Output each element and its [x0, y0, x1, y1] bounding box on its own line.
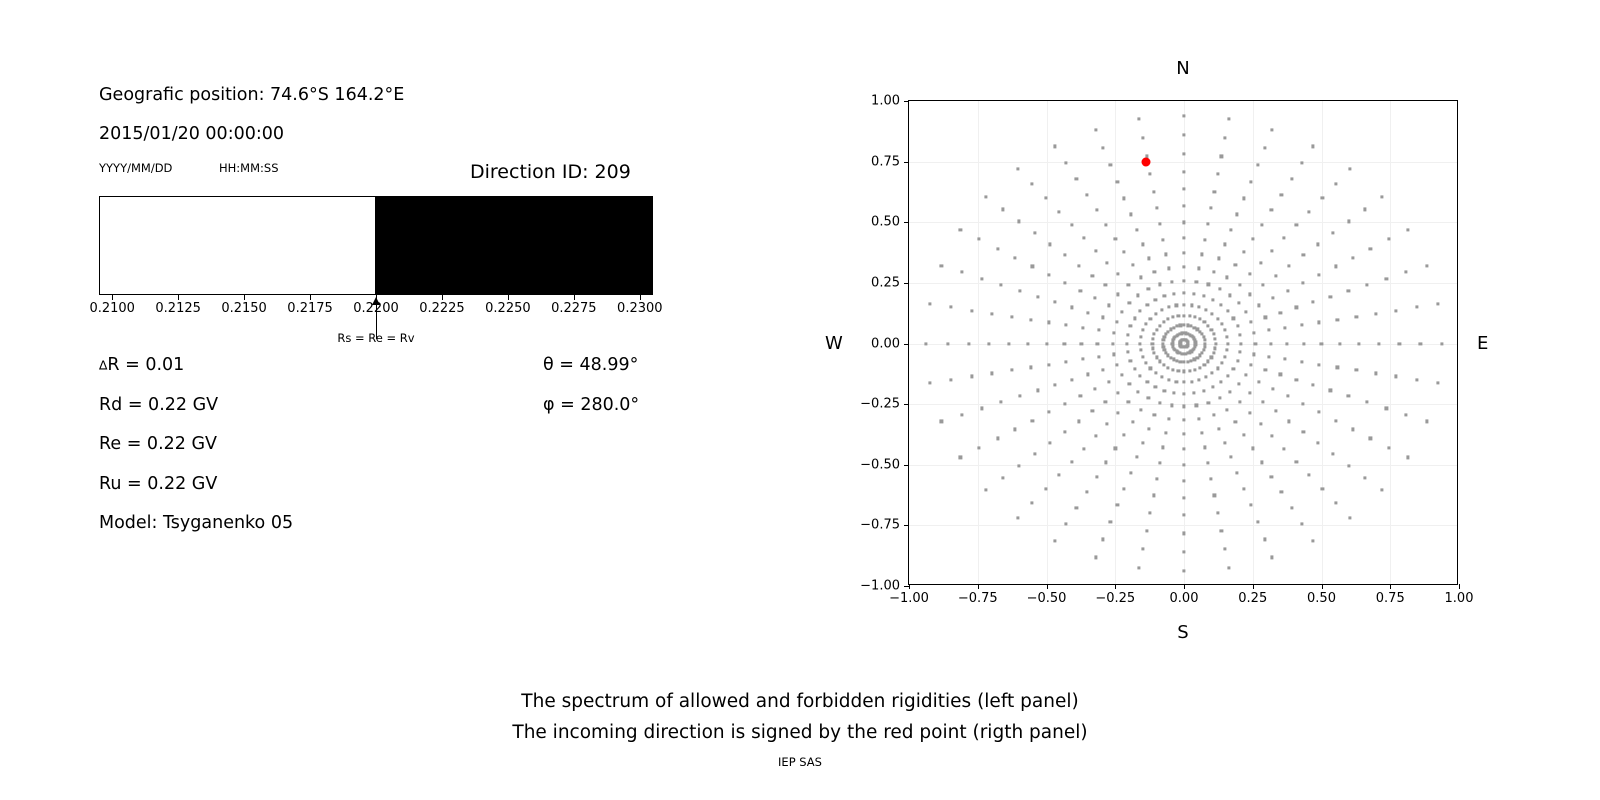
- direction-dot: [1153, 332, 1156, 335]
- direction-dot: [1251, 447, 1254, 450]
- direction-dot: [1203, 446, 1206, 449]
- direction-dot: [996, 247, 999, 250]
- direction-dot: [1151, 347, 1154, 350]
- direction-dot: [928, 302, 931, 305]
- direction-dot: [1137, 294, 1140, 297]
- direction-dot: [970, 309, 973, 312]
- direction-dot: [924, 342, 927, 345]
- direction-dot: [1106, 261, 1109, 264]
- direction-dot: [1283, 237, 1286, 240]
- direction-dot: [1123, 251, 1126, 254]
- direction-dot: [1106, 423, 1109, 426]
- direction-dot: [1158, 401, 1161, 404]
- direction-dot: [1080, 342, 1083, 345]
- direction-dot: [1321, 196, 1324, 199]
- direction-dot: [1121, 373, 1124, 376]
- x-tick-mark: [1184, 584, 1185, 589]
- direction-dot: [1175, 304, 1178, 307]
- direction-dot: [1295, 224, 1298, 227]
- direction-dot: [1216, 511, 1219, 514]
- direction-dot: [1070, 306, 1073, 309]
- direction-dot: [1316, 243, 1319, 246]
- direction-dot: [1295, 306, 1298, 309]
- direction-dot: [1149, 173, 1152, 176]
- direction-dot: [1238, 400, 1241, 403]
- parameter-item: φ = 280.0°: [543, 395, 639, 415]
- direction-dot: [1030, 502, 1033, 505]
- direction-dot: [1196, 356, 1199, 359]
- direction-dot: [1095, 208, 1098, 211]
- direction-dot: [1182, 266, 1185, 269]
- direction-dot: [1334, 502, 1337, 505]
- y-tick-mark: [904, 222, 909, 223]
- direction-dot: [1139, 335, 1142, 338]
- direction-dot: [1146, 303, 1149, 306]
- direction-dot: [1177, 369, 1180, 372]
- direction-dot: [1141, 441, 1144, 444]
- direction-dot: [1192, 391, 1195, 394]
- direction-dot: [1093, 387, 1096, 390]
- allowed-rigidity-region: [100, 197, 377, 294]
- direction-dot: [1182, 170, 1185, 173]
- direction-dot: [1162, 321, 1165, 324]
- direction-dot: [1172, 368, 1175, 371]
- direction-dot: [1211, 298, 1214, 301]
- direction-dot: [1109, 163, 1112, 166]
- direction-dot: [1260, 223, 1263, 226]
- direction-dot: [1149, 317, 1152, 320]
- direction-dot: [1234, 264, 1237, 267]
- direction-dot: [1224, 329, 1227, 332]
- direction-dot: [1182, 114, 1185, 117]
- direction-dot: [1437, 302, 1440, 305]
- direction-dot: [1123, 487, 1126, 490]
- direction-dot: [1116, 503, 1119, 506]
- direction-dot: [1137, 390, 1140, 393]
- spectrum-panel: Geografic position: 74.6°S 164.2°E 2015/…: [0, 0, 780, 620]
- selected-direction-point: [1141, 157, 1150, 166]
- direction-dot: [1182, 550, 1185, 553]
- direction-dot: [1263, 146, 1266, 149]
- direction-dot: [1251, 237, 1254, 240]
- direction-dot: [1116, 391, 1119, 394]
- parameter-item: Model: Tsyganenko 05: [99, 513, 293, 533]
- direction-dot: [1195, 404, 1198, 407]
- direction-dot: [1001, 476, 1004, 479]
- direction-dot: [1279, 311, 1282, 314]
- direction-dot: [1163, 295, 1166, 298]
- direction-dot: [1033, 452, 1036, 455]
- direction-dot: [1163, 348, 1166, 351]
- direction-dot: [1081, 326, 1084, 329]
- direction-dot: [1161, 308, 1164, 311]
- direction-dot: [1139, 342, 1142, 345]
- direction-dot: [1249, 320, 1252, 323]
- direction-dot: [1082, 237, 1085, 240]
- direction-dot: [1203, 321, 1206, 324]
- direction-dot: [1094, 128, 1097, 131]
- direction-dot: [1115, 320, 1118, 323]
- direction-dot: [1214, 342, 1217, 345]
- spectrum-tick-label: 0.2150: [221, 301, 267, 316]
- direction-dot: [1348, 516, 1351, 519]
- direction-dot: [1057, 210, 1060, 213]
- direction-dot: [1228, 390, 1231, 393]
- direction-dot: [1274, 410, 1277, 413]
- delta-glyph: ∆: [99, 358, 107, 373]
- spectrum-tick-label: 0.2275: [551, 301, 597, 316]
- direction-dot: [1236, 325, 1239, 328]
- direction-dot: [1198, 366, 1201, 369]
- compass-label-west: W: [825, 333, 843, 354]
- direction-dot: [1182, 279, 1185, 282]
- direction-dot: [1369, 437, 1372, 440]
- direction-dot: [1336, 366, 1339, 369]
- direction-dot: [1053, 383, 1056, 386]
- y-tick-label: 0.75: [871, 154, 900, 169]
- direction-dot: [1167, 366, 1170, 369]
- direction-dot: [1232, 367, 1235, 370]
- direction-dot: [1213, 190, 1216, 193]
- direction-dot: [1027, 342, 1030, 345]
- direction-dot: [1253, 331, 1256, 334]
- direction-dot: [1219, 303, 1222, 306]
- direction-dot: [1268, 329, 1271, 332]
- direction-dot: [1290, 506, 1293, 509]
- direction-dot: [1236, 213, 1239, 216]
- direction-dot: [1220, 361, 1223, 364]
- direction-dot: [1207, 401, 1210, 404]
- direction-dot: [1385, 407, 1388, 410]
- direction-dot: [1380, 488, 1383, 491]
- direction-dot: [1159, 223, 1162, 226]
- direction-dot: [1149, 367, 1152, 370]
- direction-dot: [1129, 359, 1132, 362]
- x-tick-mark: [1115, 584, 1116, 589]
- direction-dot: [1147, 396, 1150, 399]
- x-tick-mark: [1459, 584, 1460, 589]
- direction-dot: [960, 413, 963, 416]
- direction-dot: [959, 228, 962, 231]
- direction-dot: [1268, 355, 1271, 358]
- caption-line-2: The incoming direction is signed by the …: [0, 717, 1600, 748]
- direction-dot: [1154, 371, 1157, 374]
- direction-dot: [1286, 289, 1289, 292]
- direction-dot: [1218, 396, 1221, 399]
- direction-dot: [1204, 308, 1207, 311]
- x-tick-label: 0.25: [1238, 591, 1267, 606]
- direction-dot: [1257, 380, 1260, 383]
- direction-dot: [1316, 441, 1319, 444]
- direction-dot: [1288, 264, 1291, 267]
- direction-dot: [1093, 297, 1096, 300]
- direction-dot: [1155, 207, 1158, 210]
- direction-dot: [1177, 314, 1180, 317]
- direction-dot: [1182, 532, 1185, 535]
- direction-dot: [1190, 304, 1193, 307]
- direction-dot: [1332, 452, 1335, 455]
- direction-dot: [1111, 342, 1114, 345]
- direction-dot: [1063, 254, 1066, 257]
- forbidden-rigidity-region: [375, 197, 652, 294]
- direction-dot: [1364, 208, 1367, 211]
- direction-dot: [1214, 337, 1217, 340]
- direction-dot: [1162, 345, 1165, 348]
- direction-dot: [1261, 400, 1264, 403]
- direction-dot: [1318, 321, 1321, 324]
- direction-dot: [1348, 167, 1351, 170]
- direction-dot: [1144, 323, 1147, 326]
- direction-dot: [996, 437, 999, 440]
- datetime-label: 2015/01/20 00:00:00: [99, 124, 284, 144]
- direction-dot: [1232, 317, 1235, 320]
- spectrum-tick-label: 0.2300: [617, 301, 663, 316]
- direction-dot: [1165, 431, 1168, 434]
- direction-dot: [1079, 289, 1082, 292]
- direction-dot: [1226, 342, 1229, 345]
- direction-dot: [1127, 283, 1130, 286]
- rs-marker-label-wrap: Rs = Re = Rv: [99, 331, 653, 345]
- direction-dot: [1264, 368, 1267, 371]
- direction-dot: [1321, 487, 1324, 490]
- direction-dot: [1242, 251, 1245, 254]
- direction-dot: [1320, 342, 1323, 345]
- parameter-item: Ru = 0.22 GV: [99, 474, 217, 494]
- direction-dot: [985, 196, 988, 199]
- direction-dot: [1097, 329, 1100, 332]
- direction-dot: [1394, 375, 1397, 378]
- direction-dot: [1129, 325, 1132, 328]
- direction-dot: [1053, 145, 1056, 148]
- direction-dot: [1338, 342, 1341, 345]
- direction-dot: [1284, 326, 1287, 329]
- parameter-item: Rd = 0.22 GV: [99, 395, 218, 415]
- direction-dot: [1123, 433, 1126, 436]
- direction-dot: [1029, 318, 1032, 321]
- direction-dot: [1182, 314, 1185, 317]
- direction-dot: [1415, 378, 1418, 381]
- direction-dot: [1236, 359, 1239, 362]
- direction-dot: [1188, 314, 1191, 317]
- direction-dot: [1347, 395, 1350, 398]
- direction-dot: [1301, 281, 1304, 284]
- direction-dot: [1155, 328, 1158, 331]
- direction-dot: [1256, 163, 1259, 166]
- direction-dot: [1048, 243, 1051, 246]
- direction-dot: [1270, 208, 1273, 211]
- direction-dot: [1223, 243, 1226, 246]
- direction-dot: [1197, 267, 1200, 270]
- y-tick-label: 0.25: [871, 275, 900, 290]
- direction-dot: [1219, 380, 1222, 383]
- direction-dot: [1210, 356, 1213, 359]
- direction-dot: [1271, 249, 1274, 252]
- direction-dot: [1425, 420, 1428, 423]
- direction-dot: [1286, 395, 1289, 398]
- x-tick-label: 0.50: [1307, 591, 1336, 606]
- footer-label: IEP SAS: [0, 755, 1600, 769]
- direction-dot: [1094, 556, 1097, 559]
- direction-dot: [1179, 324, 1182, 327]
- direction-dot: [1270, 476, 1273, 479]
- direction-dot: [1226, 374, 1229, 377]
- direction-dot: [1213, 494, 1216, 497]
- direction-dot: [1227, 118, 1230, 121]
- direction-dot: [1147, 287, 1150, 290]
- direction-dot: [950, 306, 953, 309]
- spectrum-tick: [442, 295, 443, 300]
- date-format-hint: YYYY/MM/DD: [99, 161, 172, 175]
- direction-dot: [999, 283, 1002, 286]
- direction-dot: [1162, 238, 1165, 241]
- direction-dot: [1147, 257, 1150, 260]
- direction-dot: [1334, 265, 1337, 268]
- direction-dot: [1144, 361, 1147, 364]
- direction-dot: [1387, 238, 1390, 241]
- direction-dot: [1301, 522, 1304, 525]
- direction-dot: [1114, 237, 1117, 240]
- spectrum-tick-label: 0.2125: [155, 301, 201, 316]
- direction-dot: [1405, 271, 1408, 274]
- direction-dot: [1220, 529, 1223, 532]
- direction-dot: [1227, 566, 1230, 569]
- direction-dot: [1159, 461, 1162, 464]
- spectrum-tick-label: 0.2200: [353, 301, 399, 316]
- direction-dot: [1152, 494, 1155, 497]
- y-tick-mark: [904, 525, 909, 526]
- geographic-position-label: Geografic position: 74.6°S 164.2°E: [99, 85, 404, 105]
- direction-dot: [1170, 280, 1173, 283]
- direction-dot: [1214, 347, 1217, 350]
- direction-dot: [1249, 391, 1252, 394]
- direction-dot: [1212, 332, 1215, 335]
- direction-dot: [1047, 273, 1050, 276]
- spectrum-tick: [178, 295, 179, 300]
- spectrum-tick-label: 0.2250: [485, 301, 531, 316]
- direction-dot: [1271, 128, 1274, 131]
- direction-dot: [1186, 360, 1189, 363]
- direction-dot: [1141, 355, 1144, 358]
- direction-dot: [1163, 336, 1166, 339]
- direction-dot: [1182, 338, 1185, 341]
- spectrum-tick-label: 0.2175: [287, 301, 333, 316]
- direction-dot: [1249, 363, 1252, 366]
- direction-dot: [1206, 223, 1209, 226]
- direction-dot: [1182, 251, 1185, 254]
- direction-dot: [1329, 389, 1332, 392]
- direction-dot: [1162, 339, 1165, 342]
- direction-dot: [1211, 385, 1214, 388]
- direction-dot: [1001, 208, 1004, 211]
- direction-dot: [1116, 293, 1119, 296]
- direction-dot: [1167, 378, 1170, 381]
- direction-dot: [1182, 236, 1185, 239]
- spectrum-tick: [376, 295, 377, 300]
- direction-dot: [1182, 303, 1185, 306]
- direction-dot: [1182, 463, 1185, 466]
- x-tick-mark: [1322, 584, 1323, 589]
- direction-dot: [1415, 306, 1418, 309]
- direction-dot: [1202, 389, 1205, 392]
- direction-dot: [1312, 145, 1315, 148]
- direction-dot: [1182, 221, 1185, 224]
- direction-dot: [1226, 408, 1229, 411]
- direction-dot: [1163, 389, 1166, 392]
- direction-dot: [1086, 311, 1089, 314]
- direction-dot: [1154, 385, 1157, 388]
- direction-dot: [978, 238, 981, 241]
- direction-dot: [1047, 411, 1050, 414]
- direction-dot: [1115, 363, 1118, 366]
- y-tick-mark: [904, 101, 909, 102]
- direction-dot: [1210, 328, 1213, 331]
- direction-dot: [1107, 380, 1110, 383]
- direction-dot: [1129, 213, 1132, 216]
- direction-dot: [1212, 351, 1215, 354]
- direction-dot: [1406, 456, 1409, 459]
- direction-dot: [1394, 309, 1397, 312]
- direction-dot: [1182, 152, 1185, 155]
- direction-dot: [1369, 247, 1372, 250]
- direction-dot: [980, 277, 983, 280]
- direction-dot: [1031, 419, 1034, 422]
- direction-dot: [1351, 428, 1354, 431]
- direction-dot: [1182, 133, 1185, 136]
- direction-dot: [1162, 342, 1165, 345]
- direction-dot: [1112, 331, 1115, 334]
- direction-dot: [1288, 420, 1291, 423]
- direction-dot: [1242, 487, 1245, 490]
- direction-dot: [1044, 196, 1047, 199]
- direction-dot: [988, 342, 991, 345]
- rs-marker-label: Rs = Re = Rv: [337, 331, 414, 345]
- direction-dot: [1141, 547, 1144, 550]
- direction-dot: [1285, 342, 1288, 345]
- direction-dot: [1206, 461, 1209, 464]
- direction-dot: [1101, 316, 1104, 319]
- direction-dot: [1096, 342, 1099, 345]
- direction-dot: [1128, 382, 1131, 385]
- direction-dot: [940, 420, 943, 423]
- direction-dot: [1182, 205, 1185, 208]
- direction-dot: [1135, 228, 1138, 231]
- direction-dot: [1182, 370, 1185, 373]
- direction-dot: [1152, 190, 1155, 193]
- direction-dot: [1209, 207, 1212, 210]
- x-tick-label: 0.00: [1170, 591, 1199, 606]
- direction-dot: [1244, 373, 1247, 376]
- direction-dot: [1094, 435, 1097, 438]
- direction-dot: [1249, 293, 1252, 296]
- spectrum-tick: [640, 295, 641, 300]
- direction-dot: [1077, 420, 1080, 423]
- direction-dot: [1123, 197, 1126, 200]
- direction-dot: [1097, 355, 1100, 358]
- direction-dot: [1182, 405, 1185, 408]
- direction-dot: [1374, 312, 1377, 315]
- direction-dot: [1357, 342, 1360, 345]
- direction-dot: [1129, 471, 1132, 474]
- direction-dot: [1116, 273, 1119, 276]
- direction-dot: [1197, 417, 1200, 420]
- direction-dot: [1280, 491, 1283, 494]
- y-tick-mark: [904, 162, 909, 163]
- direction-dot: [1147, 427, 1150, 430]
- direction-dot: [1094, 249, 1097, 252]
- direction-dot: [1200, 431, 1203, 434]
- direction-dot: [1153, 270, 1156, 273]
- direction-dot: [1162, 446, 1165, 449]
